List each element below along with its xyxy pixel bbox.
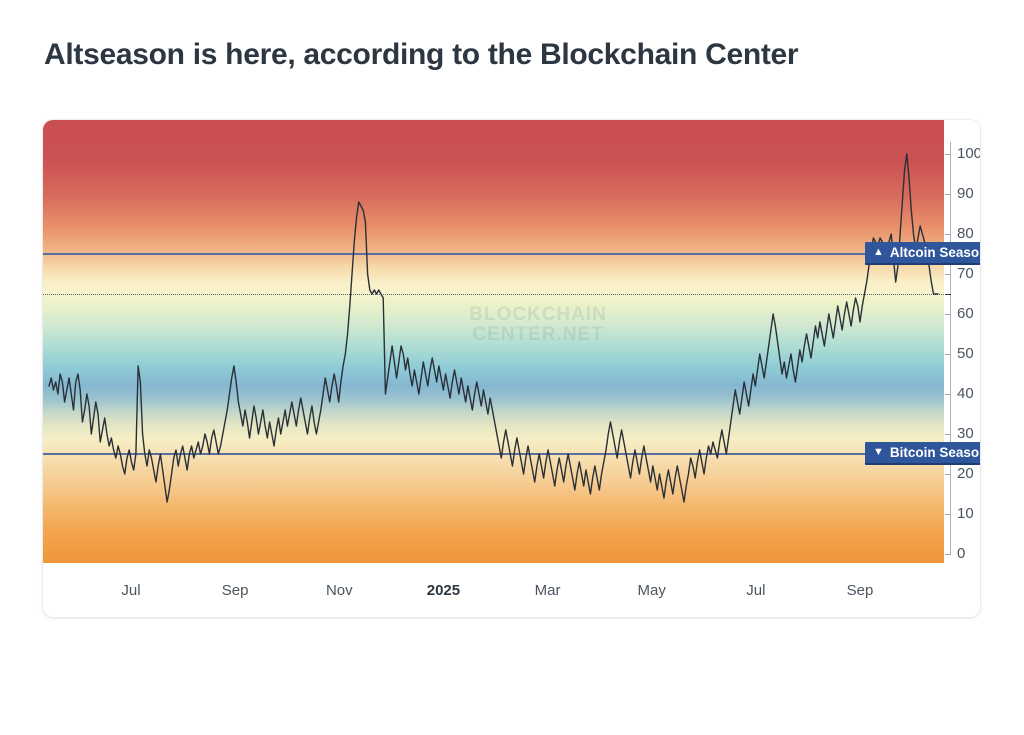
x-tick-label: Jul (121, 582, 140, 599)
x-tick-label: Mar (535, 582, 561, 599)
y-tick-mark (945, 154, 951, 155)
y-tick-mark (945, 274, 951, 275)
x-tick-label: Nov (326, 582, 353, 599)
triangle-up-icon: ▲ (873, 247, 884, 258)
y-tick-mark (945, 354, 951, 355)
x-tick-label: Jul (746, 582, 765, 599)
y-tick-mark (945, 294, 951, 295)
y-tick-label: 0 (957, 545, 965, 562)
y-tick-mark (945, 234, 951, 235)
plot-area: BLOCKCHAIN CENTER.NET (43, 120, 980, 563)
y-tick-mark (945, 474, 951, 475)
x-tick-label: May (638, 582, 666, 599)
y-tick-mark (945, 394, 951, 395)
chart-card: BLOCKCHAIN CENTER.NET 010203040506070809… (43, 120, 980, 617)
y-tick-mark (945, 194, 951, 195)
y-tick-label: 50 (957, 345, 974, 362)
y-tick-label: 10 (957, 505, 974, 522)
y-tick-mark (945, 314, 951, 315)
page-title: Altseason is here, according to the Bloc… (44, 38, 798, 72)
y-tick-label: 80 (957, 225, 974, 242)
y-tick-label: 40 (957, 385, 974, 402)
altcoin-season-badge[interactable]: ▲ Altcoin Season - 75 (865, 242, 980, 265)
x-tick-label: Sep (222, 582, 249, 599)
y-tick-label: 70 (957, 265, 974, 282)
altcoin-season-label: Altcoin Season (890, 245, 980, 260)
y-tick-mark (945, 434, 951, 435)
x-axis (43, 563, 980, 617)
altcoin-season-index-line (43, 120, 944, 563)
y-tick-label: 60 (957, 305, 974, 322)
bitcoin-season-badge[interactable]: ▼ Bitcoin Season - 25 (865, 442, 980, 465)
y-tick-mark (945, 514, 951, 515)
y-axis-spine (950, 142, 951, 554)
y-tick-label: 20 (957, 465, 974, 482)
y-tick-mark (945, 554, 951, 555)
x-tick-label: 2025 (427, 582, 460, 599)
y-tick-label: 30 (957, 425, 974, 442)
bitcoin-season-label: Bitcoin Season (890, 445, 980, 460)
y-tick-label: 90 (957, 185, 974, 202)
x-tick-label: Sep (847, 582, 874, 599)
triangle-down-icon: ▼ (873, 447, 884, 458)
y-tick-label: 100 (957, 145, 980, 162)
